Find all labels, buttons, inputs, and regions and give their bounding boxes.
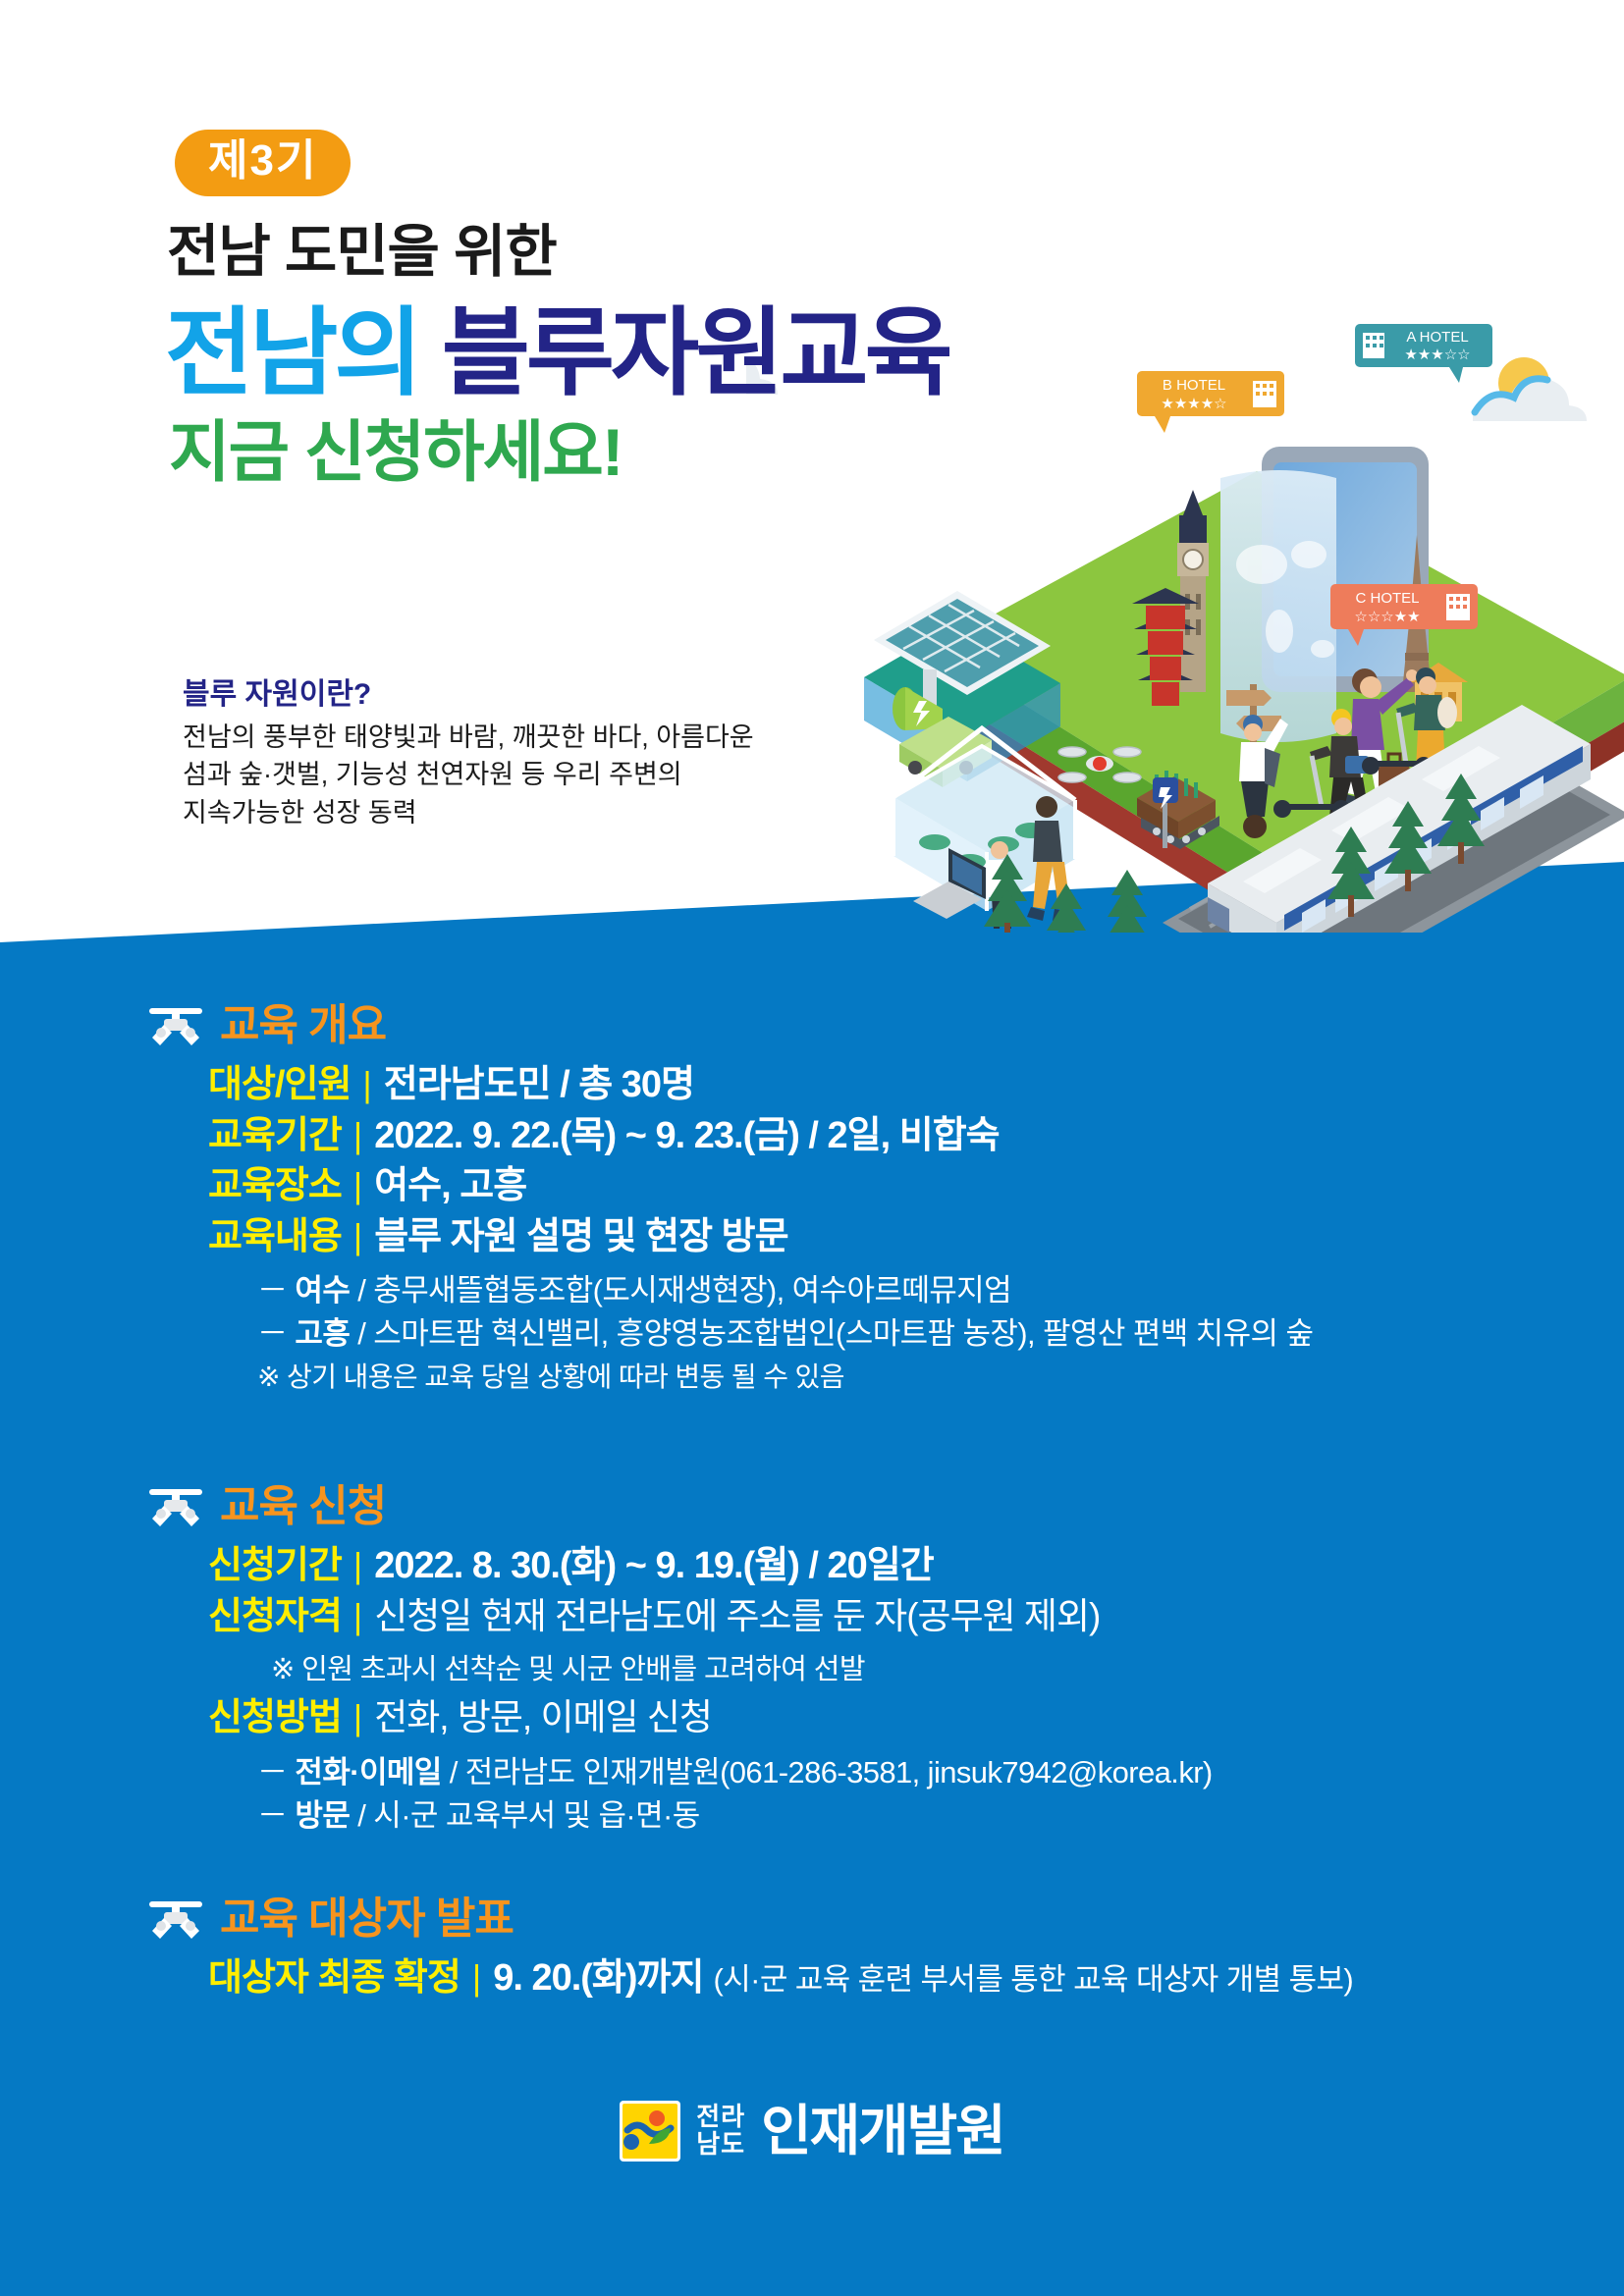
pre-title: 전남 도민을 위한 xyxy=(167,224,1080,281)
dash-marker: － xyxy=(257,1798,287,1833)
sub-item-visit: －방문 / 시·군 교육부서 및 읍·면·동 xyxy=(257,1794,1213,1838)
label-eligibility: 신청자격 xyxy=(208,1596,342,1638)
sub-item-visit-name: 방문 xyxy=(295,1798,350,1833)
hotel-c-stars: ☆☆☆★★ xyxy=(1354,608,1420,625)
robot-claw-icon xyxy=(147,1895,204,1944)
sub-item-phone-email-name: 전화·이메일 xyxy=(295,1755,441,1789)
overview-sub-list: －여수 / 충무새뜰협동조합(도시재생현장), 여수아르떼뮤지엄 －고흥 / 스… xyxy=(257,1269,1313,1397)
logo-organization-name: 인재개발원 xyxy=(761,2104,1004,2159)
hotel-b-label: B HOTEL xyxy=(1163,377,1225,394)
separator: | xyxy=(353,1116,362,1155)
separator: | xyxy=(353,1546,362,1585)
sub-item-yeosu: －여수 / 충무새뜰협동조합(도시재생현장), 여수아르떼뮤지엄 xyxy=(257,1269,1313,1312)
sub-item-goheung-name: 고흥 xyxy=(295,1316,350,1351)
separator: | xyxy=(353,1698,362,1737)
dash-marker: － xyxy=(257,1273,287,1308)
value-final-confirm: 9. 20.(화)까지 xyxy=(493,1957,703,2000)
edition-badge: 제3기 xyxy=(175,130,351,196)
section-title-announcement: 교육 대상자 발표 xyxy=(220,1897,514,1941)
dash-marker: － xyxy=(257,1316,287,1351)
logo-line-2: 남도 xyxy=(696,2131,745,2159)
value-method: 전화, 방문, 이메일 신청 xyxy=(374,1697,712,1737)
definition-line-1: 전남의 풍부한 태양빛과 바람, 깨끗한 바다, 아름다운 xyxy=(183,719,791,756)
announcement-row-final: 대상자 최종 확정 | 9. 20.(화)까지 (시·군 교육 훈련 부서를 통… xyxy=(208,1957,1353,2000)
main-title-dark: 블루자원교육 xyxy=(442,298,949,406)
sub-item-goheung-detail: / 스마트팜 혁신밸리, 흥양영농조합법인(스마트팜 농장), 팔영산 편백 치… xyxy=(350,1316,1313,1351)
definition-line-2: 섬과 숲·갯벌, 기능성 천연자원 등 우리 주변의 xyxy=(183,756,791,793)
section-announcement: 교육 대상자 발표 대상자 최종 확정 | 9. 20.(화)까지 (시·군 교… xyxy=(147,1895,1353,2008)
value-period: 2022. 9. 22.(목) ~ 9. 23.(금) / 2일, 비합숙 xyxy=(374,1115,999,1157)
separator: | xyxy=(353,1597,362,1636)
sub-item-visit-detail: / 시·군 교육부서 및 읍·면·동 xyxy=(350,1798,699,1833)
separator: | xyxy=(472,1958,481,1998)
jeonnam-emblem-icon xyxy=(620,2101,680,2162)
application-row-eligibility: 신청자격 | 신청일 현재 전라남도에 주소를 둔 자(공무원 제외) xyxy=(208,1596,1213,1638)
label-apply-period: 신청기간 xyxy=(208,1545,342,1587)
section-title-overview: 교육 개요 xyxy=(220,1004,386,1047)
sub-item-phone-email-detail: / 전라남도 인재개발원(061-286-3581, jinsuk7942@ko… xyxy=(442,1755,1213,1789)
overview-row-period: 교육기간 | 2022. 9. 22.(목) ~ 9. 23.(금) / 2일,… xyxy=(208,1115,1313,1157)
robot-claw-icon xyxy=(147,1001,204,1050)
separator: | xyxy=(353,1166,362,1205)
hotel-a-label: A HOTEL xyxy=(1406,329,1468,346)
value-eligibility: 신청일 현재 전라남도에 주소를 둔 자(공무원 제외) xyxy=(374,1596,1100,1636)
robot-claw-icon xyxy=(147,1482,204,1531)
value-place: 여수, 고흥 xyxy=(374,1165,526,1207)
label-content: 교육내용 xyxy=(208,1216,342,1258)
section-overview: 교육 개요 대상/인원 | 전라남도민 / 총 30명 교육기간 | 2022.… xyxy=(147,1001,1313,1397)
hotel-a-stars: ★★★☆☆ xyxy=(1404,346,1470,363)
label-final-confirm: 대상자 최종 확정 xyxy=(208,1957,460,2000)
label-period: 교육기간 xyxy=(208,1115,342,1157)
overview-footnote: ※ 상기 내용은 교육 당일 상황에 따라 변동 될 수 있음 xyxy=(257,1358,1313,1397)
overview-row-place: 교육장소 | 여수, 고흥 xyxy=(208,1165,1313,1207)
hotel-tag-a: A HOTEL ★★★☆☆ xyxy=(1355,324,1492,383)
poster-root: A HOTEL ★★★☆☆ B HOTEL ★★★★☆ C HOTEL ☆☆☆★… xyxy=(0,0,1624,2296)
main-title-light: 전남의 xyxy=(165,298,418,406)
poster-header: 제3기 전남 도민을 위한 전남의 블루자원교육 지금 신청하세요! xyxy=(0,0,1080,486)
value-content: 블루 자원 설명 및 현장 방문 xyxy=(374,1216,787,1258)
separator: | xyxy=(362,1065,371,1104)
label-method: 신청방법 xyxy=(208,1697,342,1739)
hotel-tag-b: B HOTEL ★★★★☆ xyxy=(1137,371,1284,433)
application-row-period: 신청기간 | 2022. 8. 30.(화) ~ 9. 19.(월) / 20일… xyxy=(208,1545,1213,1587)
call-to-action-title: 지금 신청하세요! xyxy=(169,419,1080,486)
big-ben-landmark xyxy=(1177,490,1209,692)
cloud-sun-icon xyxy=(1473,357,1587,421)
announcement-note: (시·군 교육 훈련 부서를 통한 교육 대상자 개별 통보) xyxy=(713,1963,1353,1998)
sub-item-yeosu-name: 여수 xyxy=(295,1273,350,1308)
definition-heading: 블루 자원이란? xyxy=(183,677,791,713)
sub-item-yeosu-detail: / 충무새뜰협동조합(도시재생현장), 여수아르떼뮤지엄 xyxy=(350,1273,1011,1308)
overview-row-content: 교육내용 | 블루 자원 설명 및 현장 방문 xyxy=(208,1216,1313,1258)
main-title: 전남의 블루자원교육 xyxy=(165,302,1080,403)
sub-item-goheung: －고흥 / 스마트팜 혁신밸리, 흥양영농조합법인(스마트팜 농장), 팔영산 … xyxy=(257,1312,1313,1356)
section-title-application: 교육 신청 xyxy=(220,1485,386,1528)
hotel-b-stars: ★★★★☆ xyxy=(1161,395,1226,412)
footer-logo: 전라 남도 인재개발원 xyxy=(0,2101,1624,2162)
logo-line-1: 전라 xyxy=(696,2104,745,2131)
hotel-c-label: C HOTEL xyxy=(1355,590,1419,607)
label-place: 교육장소 xyxy=(208,1165,342,1207)
sub-item-phone-email: －전화·이메일 / 전라남도 인재개발원(061-286-3581, jinsu… xyxy=(257,1751,1213,1794)
label-audience: 대상/인원 xyxy=(208,1064,351,1106)
separator: | xyxy=(353,1217,362,1256)
application-sub-list: －전화·이메일 / 전라남도 인재개발원(061-286-3581, jinsu… xyxy=(257,1751,1213,1838)
definition-block: 블루 자원이란? 전남의 풍부한 태양빛과 바람, 깨끗한 바다, 아름다운 섬… xyxy=(183,677,791,831)
section-application: 교육 신청 신청기간 | 2022. 8. 30.(화) ~ 9. 19.(월)… xyxy=(147,1482,1213,1838)
dash-marker: － xyxy=(257,1755,287,1789)
definition-line-3: 지속가능한 성장 동력 xyxy=(183,794,791,831)
value-audience: 전라남도민 / 총 30명 xyxy=(384,1064,694,1106)
overview-row-audience: 대상/인원 | 전라남도민 / 총 30명 xyxy=(208,1064,1313,1106)
application-row-method: 신청방법 | 전화, 방문, 이메일 신청 xyxy=(208,1697,1213,1739)
value-apply-period: 2022. 8. 30.(화) ~ 9. 19.(월) / 20일간 xyxy=(374,1545,934,1587)
application-inline-note: ※ 인원 초과시 선착순 및 시군 안배를 고려하여 선발 xyxy=(271,1646,1213,1687)
